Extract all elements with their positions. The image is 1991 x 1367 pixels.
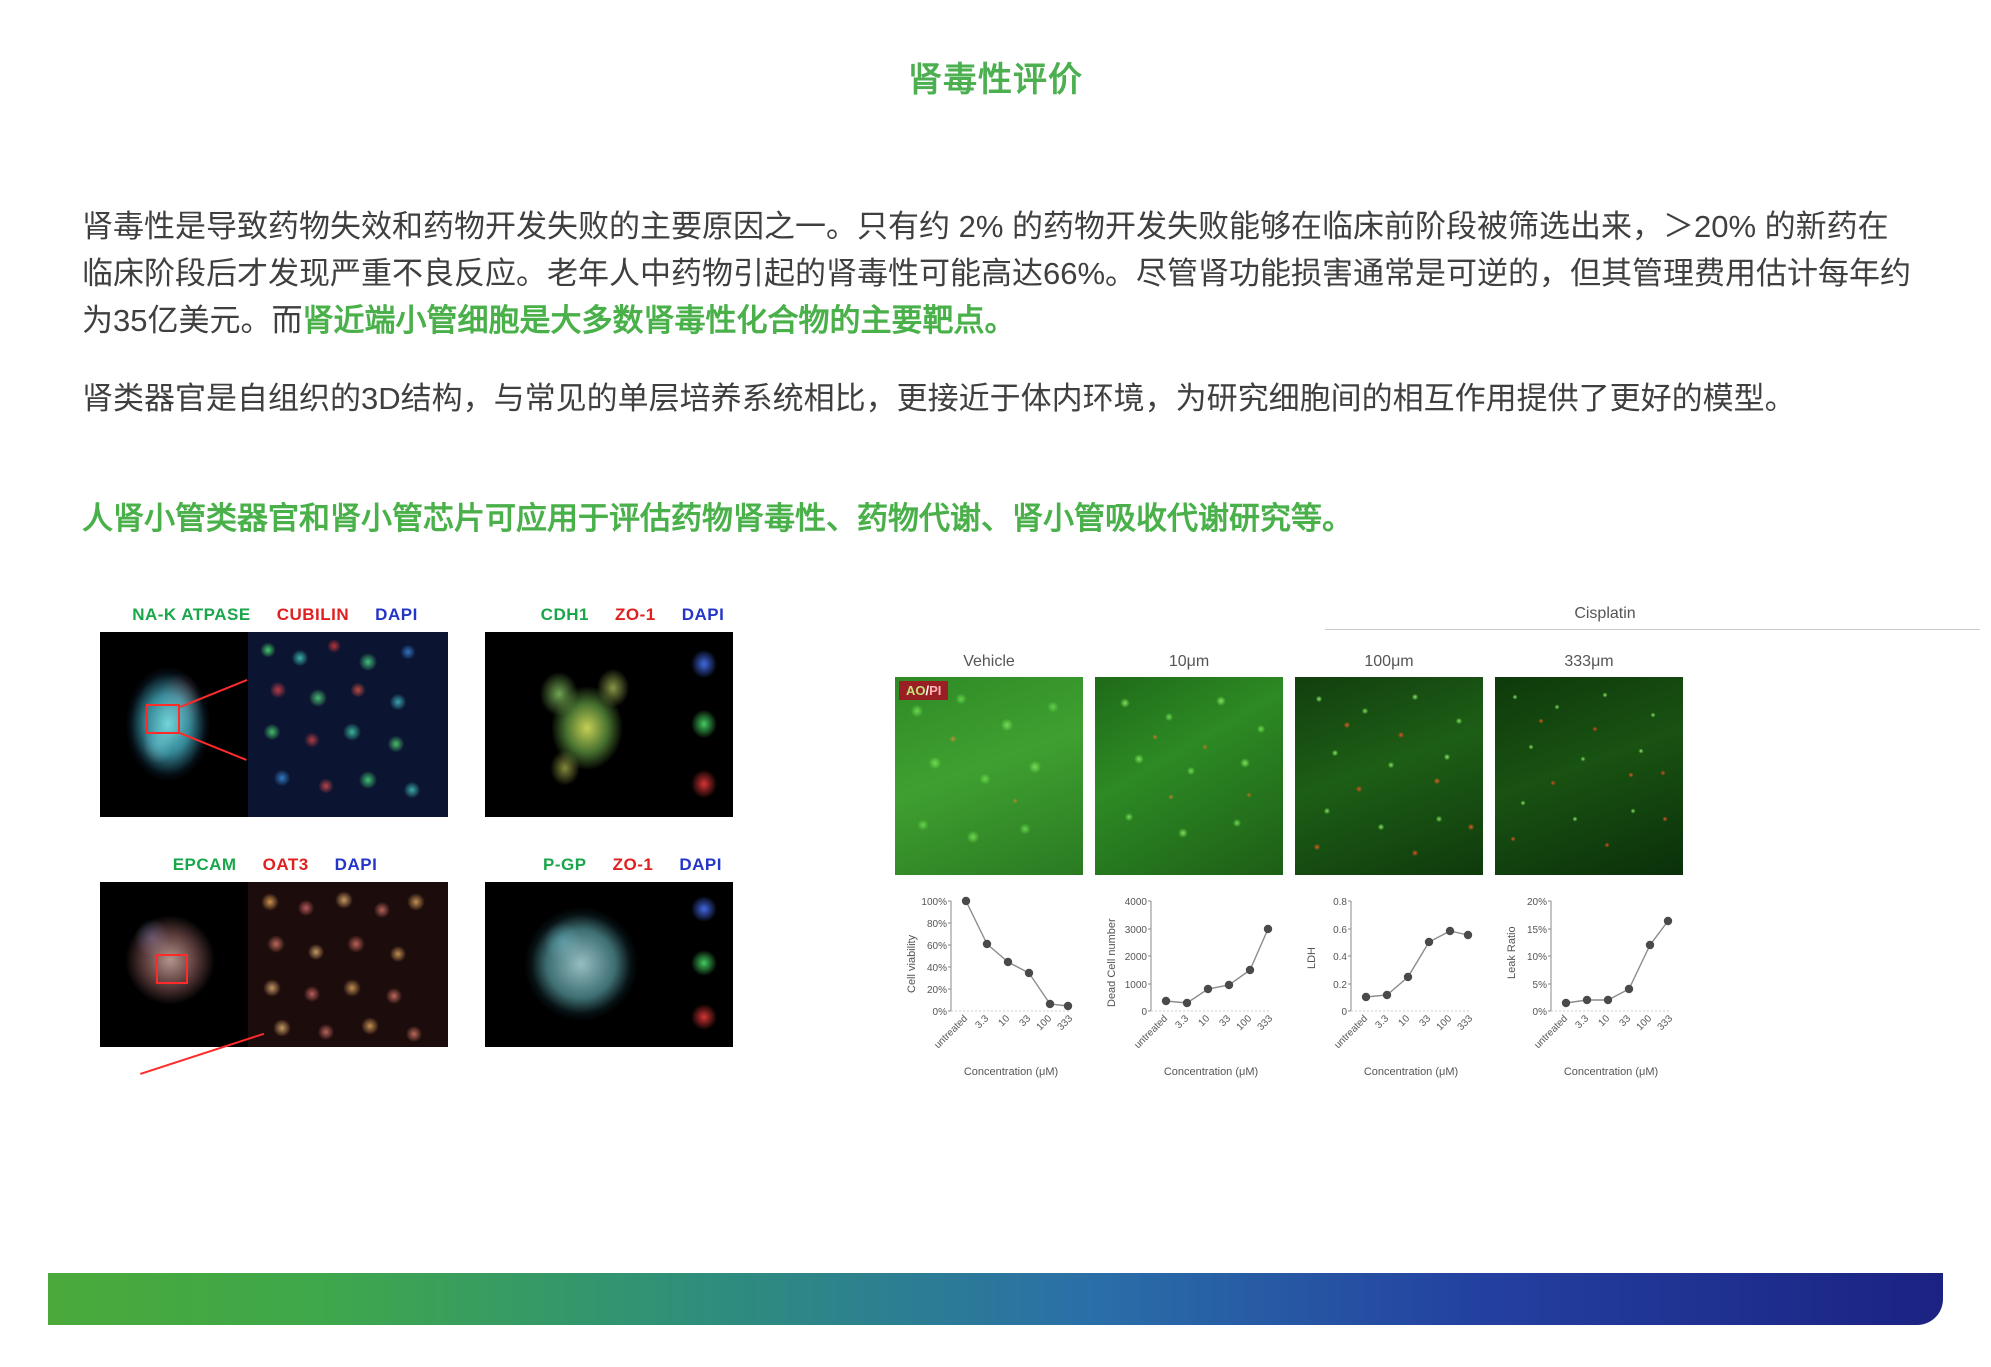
page-title: 肾毒性评价 bbox=[0, 52, 1991, 101]
chart4-xlabel: Concentration (μM) bbox=[1564, 1066, 1658, 1078]
panel-cdh1-labels: CDH1 ZO-1 DAPI bbox=[485, 605, 780, 625]
chart4-ytick-20: 20% bbox=[1527, 897, 1547, 908]
cisplatin-group-rule bbox=[1325, 629, 1980, 630]
panel-epcam-image bbox=[100, 882, 448, 1047]
chart3-ylabel: LDH bbox=[1306, 947, 1318, 969]
chart3-xtick-4: 100 bbox=[1435, 1013, 1455, 1033]
chart1-ylabel: Cell viability bbox=[906, 934, 918, 993]
panel-na-k-atpase-labels: NA-K ATPASE CUBILIN DAPI bbox=[100, 605, 450, 625]
chart4-xtick-0: untreated bbox=[1532, 1013, 1570, 1051]
stain-label-zo1: ZO-1 bbox=[615, 605, 656, 625]
chart2-ytick-4000: 4000 bbox=[1125, 897, 1148, 908]
chart4-xtick-4: 100 bbox=[1635, 1013, 1655, 1033]
footer-ribbon bbox=[0, 1249, 1991, 1367]
cisplatin-label-100um: 100μm bbox=[1295, 653, 1483, 671]
cisplatin-columns: Vehicle AO/PI 10μm 100μm 333μm bbox=[895, 653, 1915, 875]
stain-label-dapi-3: DAPI bbox=[335, 855, 378, 875]
chart1-xtick-0: untreated bbox=[932, 1013, 970, 1051]
cisplatin-figure: Cisplatin Vehicle AO/PI 10μm 100μm bbox=[895, 605, 1915, 1099]
chart4-xticks: untreated 3.3 10 33 100 333 bbox=[1532, 1013, 1675, 1051]
chart3-ytick-0: 0 bbox=[1341, 1007, 1347, 1018]
panel-p-gp-labels: P-GP ZO-1 DAPI bbox=[485, 855, 780, 875]
chart1-ytick-60: 60% bbox=[927, 941, 947, 952]
dose-response-plots: 100% 80% 60% 40% 20% 0% bbox=[895, 889, 1915, 1099]
chart1-points bbox=[962, 897, 1072, 1010]
ao-label: AO bbox=[906, 683, 926, 698]
chart2-xtick-3: 33 bbox=[1217, 1013, 1233, 1029]
chart3-xtick-2: 10 bbox=[1396, 1013, 1412, 1029]
paragraph-intro-highlight: 肾近端小管细胞是大多数肾毒性化合物的主要靶点。 bbox=[302, 303, 1015, 338]
panel-na-k-atpase-image bbox=[100, 632, 448, 817]
cisplatin-col-10um: 10μm bbox=[1095, 653, 1283, 875]
chart-dead-cell-number[interactable]: 4000 3000 2000 1000 0 bbox=[1095, 889, 1283, 1099]
chart2-xticks: untreated 3.3 10 33 100 333 bbox=[1132, 1013, 1275, 1051]
chart2-ytick-1000: 1000 bbox=[1125, 980, 1148, 991]
ao-pi-badge: AO/PI bbox=[899, 681, 948, 700]
chart1-xtick-5: 333 bbox=[1056, 1013, 1076, 1033]
cisplatin-image-10um bbox=[1095, 677, 1283, 875]
cisplatin-group-title: Cisplatin bbox=[1325, 605, 1885, 623]
zoom-region-marker bbox=[146, 704, 180, 734]
cisplatin-col-100um: 100μm bbox=[1295, 653, 1483, 875]
stain-label-cubilin: CUBILIN bbox=[277, 605, 349, 625]
stain-label-oat3: OAT3 bbox=[263, 855, 309, 875]
chart1-ytick-40: 40% bbox=[927, 963, 947, 974]
paragraph-applications: 人肾小管类器官和肾小管芯片可应用于评估药物肾毒性、药物代谢、肾小管吸收代谢研究等… bbox=[82, 495, 1912, 542]
stain-label-zo1-2: ZO-1 bbox=[613, 855, 654, 875]
chart2-points bbox=[1162, 925, 1272, 1007]
chart3-ytick-06: 0.6 bbox=[1333, 925, 1347, 936]
chart1-xticks: untreated 3.3 10 33 100 333 bbox=[932, 1013, 1075, 1051]
chart1-series-line bbox=[966, 901, 1068, 1006]
chart-dead-cell-number-svg: 4000 3000 2000 1000 0 bbox=[1095, 889, 1283, 1099]
cisplatin-label-vehicle: Vehicle bbox=[895, 653, 1083, 671]
chart1-yticks: 100% 80% 60% 40% 20% 0% bbox=[921, 897, 951, 1018]
chart1-ytick-0: 0% bbox=[933, 1007, 948, 1018]
chart4-ytick-15: 15% bbox=[1527, 925, 1547, 936]
chart-ldh[interactable]: 0.8 0.6 0.4 0.2 0 bbox=[1295, 889, 1483, 1099]
chart4-xtick-5: 333 bbox=[1656, 1013, 1676, 1033]
stain-label-dapi-2: DAPI bbox=[682, 605, 725, 625]
chart2-series-line bbox=[1166, 929, 1268, 1003]
chart3-xtick-5: 333 bbox=[1456, 1013, 1476, 1033]
cisplatin-header: Cisplatin bbox=[895, 605, 1915, 653]
pi-label: PI bbox=[929, 683, 941, 698]
chart3-xtick-1: 3.3 bbox=[1374, 1013, 1392, 1031]
stain-label-cdh1: CDH1 bbox=[541, 605, 589, 625]
chart4-series-line bbox=[1566, 921, 1668, 1003]
chart4-yticks: 20% 15% 10% 5% 0% bbox=[1527, 897, 1551, 1018]
panel-cdh1-image bbox=[485, 632, 733, 817]
chart3-series-line bbox=[1366, 931, 1468, 997]
chart2-xtick-0: untreated bbox=[1132, 1013, 1170, 1051]
cisplatin-col-333um: 333μm bbox=[1495, 653, 1683, 875]
chart4-xtick-1: 3.3 bbox=[1574, 1013, 1592, 1031]
panel-epcam[interactable]: EPCAM OAT3 DAPI bbox=[100, 855, 450, 1047]
chart3-xticks: untreated 3.3 10 33 100 333 bbox=[1332, 1013, 1475, 1051]
chart3-ytick-04: 0.4 bbox=[1333, 952, 1347, 963]
chart1-xtick-1: 3.3 bbox=[974, 1013, 992, 1031]
chart4-ytick-0: 0% bbox=[1533, 1007, 1548, 1018]
chart1-ytick-80: 80% bbox=[927, 919, 947, 930]
chart-cell-viability-svg: 100% 80% 60% 40% 20% 0% bbox=[895, 889, 1083, 1099]
chart3-ytick-08: 0.8 bbox=[1333, 897, 1347, 908]
stain-label-dapi: DAPI bbox=[375, 605, 418, 625]
chart2-xtick-4: 100 bbox=[1235, 1013, 1255, 1033]
footer-ribbon-gradient bbox=[48, 1273, 1943, 1325]
chart2-xtick-5: 333 bbox=[1256, 1013, 1276, 1033]
chart1-xtick-2: 10 bbox=[996, 1013, 1012, 1029]
figure-region: NA-K ATPASE CUBILIN DAPI CDH1 ZO-1 DAPI bbox=[0, 605, 1991, 1165]
panel-p-gp[interactable]: P-GP ZO-1 DAPI bbox=[485, 855, 780, 1047]
cisplatin-image-100um bbox=[1295, 677, 1483, 875]
chart1-ytick-20: 20% bbox=[927, 985, 947, 996]
chart2-xtick-1: 3.3 bbox=[1174, 1013, 1192, 1031]
chart-cell-viability[interactable]: 100% 80% 60% 40% 20% 0% bbox=[895, 889, 1083, 1099]
chart4-ylabel: Leak Ratio bbox=[1506, 926, 1518, 979]
chart3-yticks: 0.8 0.6 0.4 0.2 0 bbox=[1333, 897, 1351, 1018]
chart3-points bbox=[1362, 927, 1472, 1001]
chart2-xtick-2: 10 bbox=[1196, 1013, 1212, 1029]
stain-label-epcam: EPCAM bbox=[173, 855, 237, 875]
cisplatin-image-vehicle: AO/PI bbox=[895, 677, 1083, 875]
cisplatin-label-333um: 333μm bbox=[1495, 653, 1683, 671]
chart-ldh-svg: 0.8 0.6 0.4 0.2 0 bbox=[1295, 889, 1483, 1099]
panel-epcam-labels: EPCAM OAT3 DAPI bbox=[100, 855, 450, 875]
chart4-ytick-10: 10% bbox=[1527, 952, 1547, 963]
chart4-ytick-5: 5% bbox=[1533, 980, 1548, 991]
cisplatin-label-10um: 10μm bbox=[1095, 653, 1283, 671]
chart3-xtick-3: 33 bbox=[1417, 1013, 1433, 1029]
chart2-ylabel: Dead Cell number bbox=[1106, 918, 1118, 1007]
paragraph-organoid: 肾类器官是自组织的3D结构，与常见的单层培养系统相比，更接近于体内环境，为研究细… bbox=[82, 375, 1912, 422]
chart2-xlabel: Concentration (μM) bbox=[1164, 1066, 1258, 1078]
chart-leak-ratio[interactable]: 20% 15% 10% 5% 0% bbox=[1495, 889, 1683, 1099]
chart2-yticks: 4000 3000 2000 1000 0 bbox=[1125, 897, 1151, 1018]
chart1-xlabel: Concentration (μM) bbox=[964, 1066, 1058, 1078]
chart4-xtick-3: 33 bbox=[1617, 1013, 1633, 1029]
chart2-ytick-0: 0 bbox=[1141, 1007, 1147, 1018]
stain-label-na-k-atpase: NA-K ATPASE bbox=[132, 605, 251, 625]
chart1-ytick-100: 100% bbox=[921, 897, 947, 908]
chart2-ytick-3000: 3000 bbox=[1125, 925, 1148, 936]
chart2-axes bbox=[1151, 901, 1271, 1011]
panel-p-gp-image bbox=[485, 882, 733, 1047]
paragraph-intro: 肾毒性是导致药物失效和药物开发失败的主要原因之一。只有约 2% 的药物开发失败能… bbox=[82, 203, 1912, 344]
chart-leak-ratio-svg: 20% 15% 10% 5% 0% bbox=[1495, 889, 1683, 1099]
panel-cdh1[interactable]: CDH1 ZO-1 DAPI bbox=[485, 605, 780, 817]
chart2-ytick-2000: 2000 bbox=[1125, 952, 1148, 963]
chart4-points bbox=[1562, 917, 1672, 1007]
chart1-xtick-4: 100 bbox=[1035, 1013, 1055, 1033]
panel-na-k-atpase[interactable]: NA-K ATPASE CUBILIN DAPI bbox=[100, 605, 450, 817]
chart3-ytick-02: 0.2 bbox=[1333, 980, 1347, 991]
chart3-xtick-0: untreated bbox=[1332, 1013, 1370, 1051]
cisplatin-image-333um bbox=[1495, 677, 1683, 875]
stain-label-pgp: P-GP bbox=[543, 855, 587, 875]
stain-label-dapi-4: DAPI bbox=[679, 855, 722, 875]
cisplatin-col-vehicle: Vehicle AO/PI bbox=[895, 653, 1083, 875]
chart1-axes bbox=[951, 901, 1071, 1011]
zoom-region-marker-2 bbox=[156, 954, 188, 984]
chart3-xlabel: Concentration (μM) bbox=[1364, 1066, 1458, 1078]
chart4-axes bbox=[1551, 901, 1671, 1011]
chart4-xtick-2: 10 bbox=[1596, 1013, 1612, 1029]
chart1-xtick-3: 33 bbox=[1017, 1013, 1033, 1029]
